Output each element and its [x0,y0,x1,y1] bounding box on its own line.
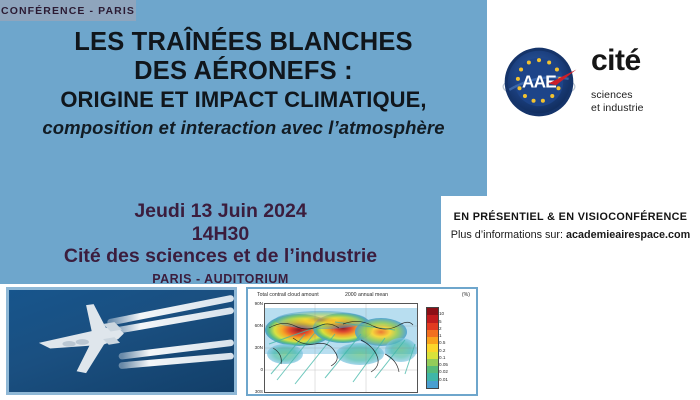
website-link[interactable]: academieairespace.com [566,229,690,241]
map-plot-area [264,303,418,393]
cite-logo: cité sciences et industrie [591,46,644,116]
colorbar-tick-label: 0.05 [439,362,448,367]
colorbar-tick-label: 2 [439,326,442,331]
map-colorbar-labels: 105210.50.20.10.050.020.01 [439,307,465,387]
attendance-format: EN PRÉSENTIEL & EN VISIOCONFÉRENCE [454,211,688,223]
colorbar-swatch [427,323,438,330]
contrail-cloud-map-figure: Total contrail cloud amount 2000 annual … [246,287,478,396]
title-line-2: DES AÉRONEFS : [0,57,487,86]
colorbar-swatch [427,381,438,388]
conference-badge: CONFÉRENCE - PARIS [0,0,136,21]
title-subtitle: composition et interaction avec l’atmosp… [0,117,487,139]
conference-badge-label: CONFÉRENCE - PARIS [1,5,135,17]
colorbar-swatch [427,308,438,315]
map-y-tick: 30S [255,389,263,394]
colorbar-tick-label: 0.02 [439,369,448,374]
map-y-tick: 30N [255,345,263,350]
logo-group: AAE cité sciences et industrie [496,40,696,140]
colorbar-swatch [427,344,438,351]
colorbar-swatch [427,366,438,373]
colorbar-tick-label: 0.2 [439,348,445,353]
colorbar-tick-label: 10 [439,311,444,316]
colorbar-tick-label: 5 [439,319,442,324]
title-line-1: LES TRAÎNÉES BLANCHES [0,28,487,57]
contrail-heatmap [265,304,417,392]
figure-title-row: Total contrail cloud amount 2000 annual … [257,291,472,302]
figure-title: Total contrail cloud amount [257,292,319,298]
map-y-tick: 60N [255,323,263,328]
colorbar-swatch [427,359,438,366]
map-colorbar [426,307,439,389]
more-info-prefix: Plus d’informations sur: [451,229,566,241]
figure-subtitle: 2000 annual mean [345,292,388,298]
colorbar-swatch [427,315,438,322]
svg-text:AAE: AAE [522,71,556,91]
more-info-line: Plus d’informations sur: academieairespa… [451,229,690,241]
colorbar-swatch [427,352,438,359]
event-venue: Cité des sciences et de l’industrie [0,245,441,268]
map-y-tick: 90N [255,301,263,306]
poster-title-block: LES TRAÎNÉES BLANCHES DES AÉRONEFS : ORI… [0,28,487,139]
colorbar-swatch [427,337,438,344]
aae-seal-icon: AAE [500,43,578,121]
colorbar-tick-label: 0.01 [439,377,448,382]
event-details: Jeudi 13 Juin 2024 14H30 Cité des scienc… [0,196,441,287]
colorbar-tick-label: 0.1 [439,355,445,360]
title-line-3: ORIGINE ET IMPACT CLIMATIQUE, [0,87,487,114]
conference-poster: CONFÉRENCE - PARIS LES TRAÎNÉES BLANCHES… [0,0,700,400]
colorbar-tick-label: 1 [439,333,442,338]
colorbar-tick-label: 0.5 [439,340,445,345]
colorbar-swatch [427,373,438,380]
airplane-contrails-illustration [9,290,234,392]
map-y-axis: 90N60N30N030S [249,301,263,393]
event-location: PARIS - AUDITORIUM [0,271,441,287]
event-date: Jeudi 13 Juin 2024 [0,200,441,223]
map-y-tick: 0 [260,367,263,372]
figure-units: (%) [462,292,470,298]
cite-wordmark: cité [591,46,644,76]
cite-tagline-line-1: sciences [591,89,644,102]
cite-tagline-line-2: et industrie [591,102,644,115]
attendance-info-block: EN PRÉSENTIEL & EN VISIOCONFÉRENCE Plus … [441,196,700,256]
colorbar-swatch [427,330,438,337]
contrail-photo [6,287,237,395]
event-time: 14H30 [0,223,441,246]
